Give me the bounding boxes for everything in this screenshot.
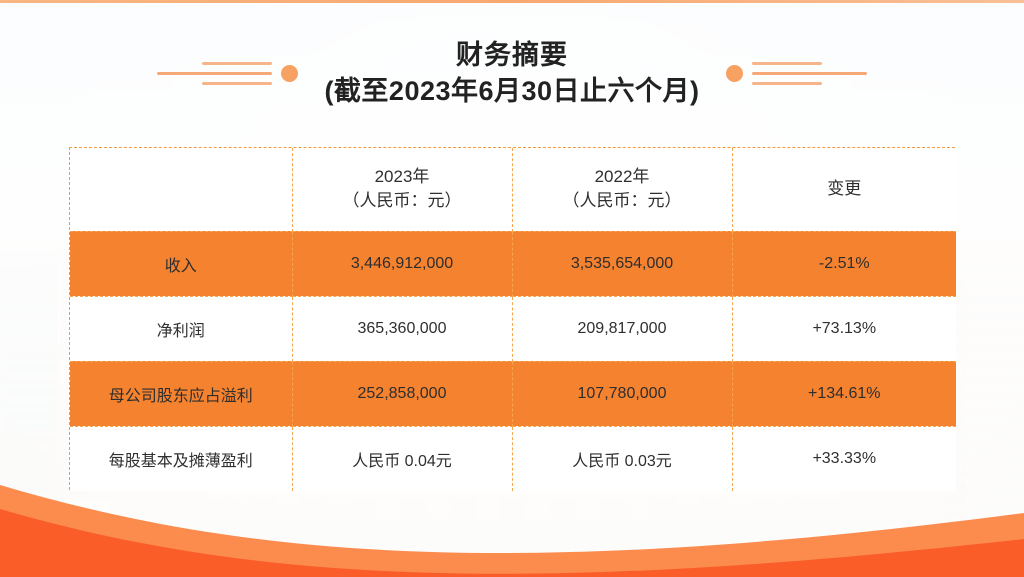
column-header-line2: （人民币：元）: [513, 189, 732, 214]
column-header-line1: 2022年: [513, 165, 732, 190]
decoration-line: [202, 82, 272, 85]
column-header-metric: [70, 148, 292, 231]
row-value-2023: 365,360,000: [292, 296, 512, 361]
slide-header: 财务摘要 (截至2023年6月30日止六个月): [0, 38, 1024, 109]
page-title-main: 财务摘要: [324, 38, 699, 74]
decoration-left: [157, 62, 298, 85]
decoration-line: [752, 72, 867, 75]
column-header-line1: 2023年: [293, 165, 512, 190]
financial-summary-table: 2023年 （人民币：元） 2022年 （人民币：元） 变更 收入 3,446,…: [69, 147, 955, 490]
page-title: 财务摘要 (截至2023年6月30日止六个月): [298, 38, 725, 109]
row-value-2023: 252,858,000: [292, 361, 512, 426]
row-label: 母公司股东应占溢利: [70, 361, 292, 426]
row-value-2022: 209,817,000: [512, 296, 732, 361]
table-row: 收入 3,446,912,000 3,535,654,000 -2.51%: [70, 231, 956, 296]
table-body: 收入 3,446,912,000 3,535,654,000 -2.51% 净利…: [70, 231, 956, 491]
decoration-line: [202, 62, 272, 65]
table-header-row: 2023年 （人民币：元） 2022年 （人民币：元） 变更: [70, 148, 956, 231]
decorative-dot-icon: [726, 65, 743, 82]
decoration-line: [752, 62, 822, 65]
table-row: 母公司股东应占溢利 252,858,000 107,780,000 +134.6…: [70, 361, 956, 426]
decoration-left-lines: [157, 62, 272, 85]
decorative-dot-icon: [281, 65, 298, 82]
row-value-change: +134.61%: [732, 361, 956, 426]
row-value-change: +73.13%: [732, 296, 956, 361]
row-value-2022: 107,780,000: [512, 361, 732, 426]
table-header: 2023年 （人民币：元） 2022年 （人民币：元） 变更: [70, 148, 956, 231]
column-header-2022: 2022年 （人民币：元）: [512, 148, 732, 231]
wave-svg: [0, 467, 1024, 577]
row-label: 收入: [70, 231, 292, 296]
column-header-change: 变更: [732, 148, 956, 231]
page-title-subtitle: (截至2023年6月30日止六个月): [324, 74, 699, 110]
row-value-2022: 3,535,654,000: [512, 231, 732, 296]
row-value-2023: 3,446,912,000: [292, 231, 512, 296]
column-header-2023: 2023年 （人民币：元）: [292, 148, 512, 231]
summary-table: 2023年 （人民币：元） 2022年 （人民币：元） 变更 收入 3,446,…: [70, 148, 956, 491]
column-header-line1: 变更: [733, 177, 957, 202]
column-header-line2: （人民币：元）: [293, 189, 512, 214]
table-row: 净利润 365,360,000 209,817,000 +73.13%: [70, 296, 956, 361]
top-accent-line: [0, 0, 1024, 3]
decoration-line: [157, 72, 272, 75]
bottom-wave-decoration: [0, 467, 1024, 577]
row-value-change: -2.51%: [732, 231, 956, 296]
decoration-right-lines: [752, 62, 867, 85]
decoration-line: [752, 82, 822, 85]
row-label: 净利润: [70, 296, 292, 361]
decoration-right: [726, 62, 867, 85]
